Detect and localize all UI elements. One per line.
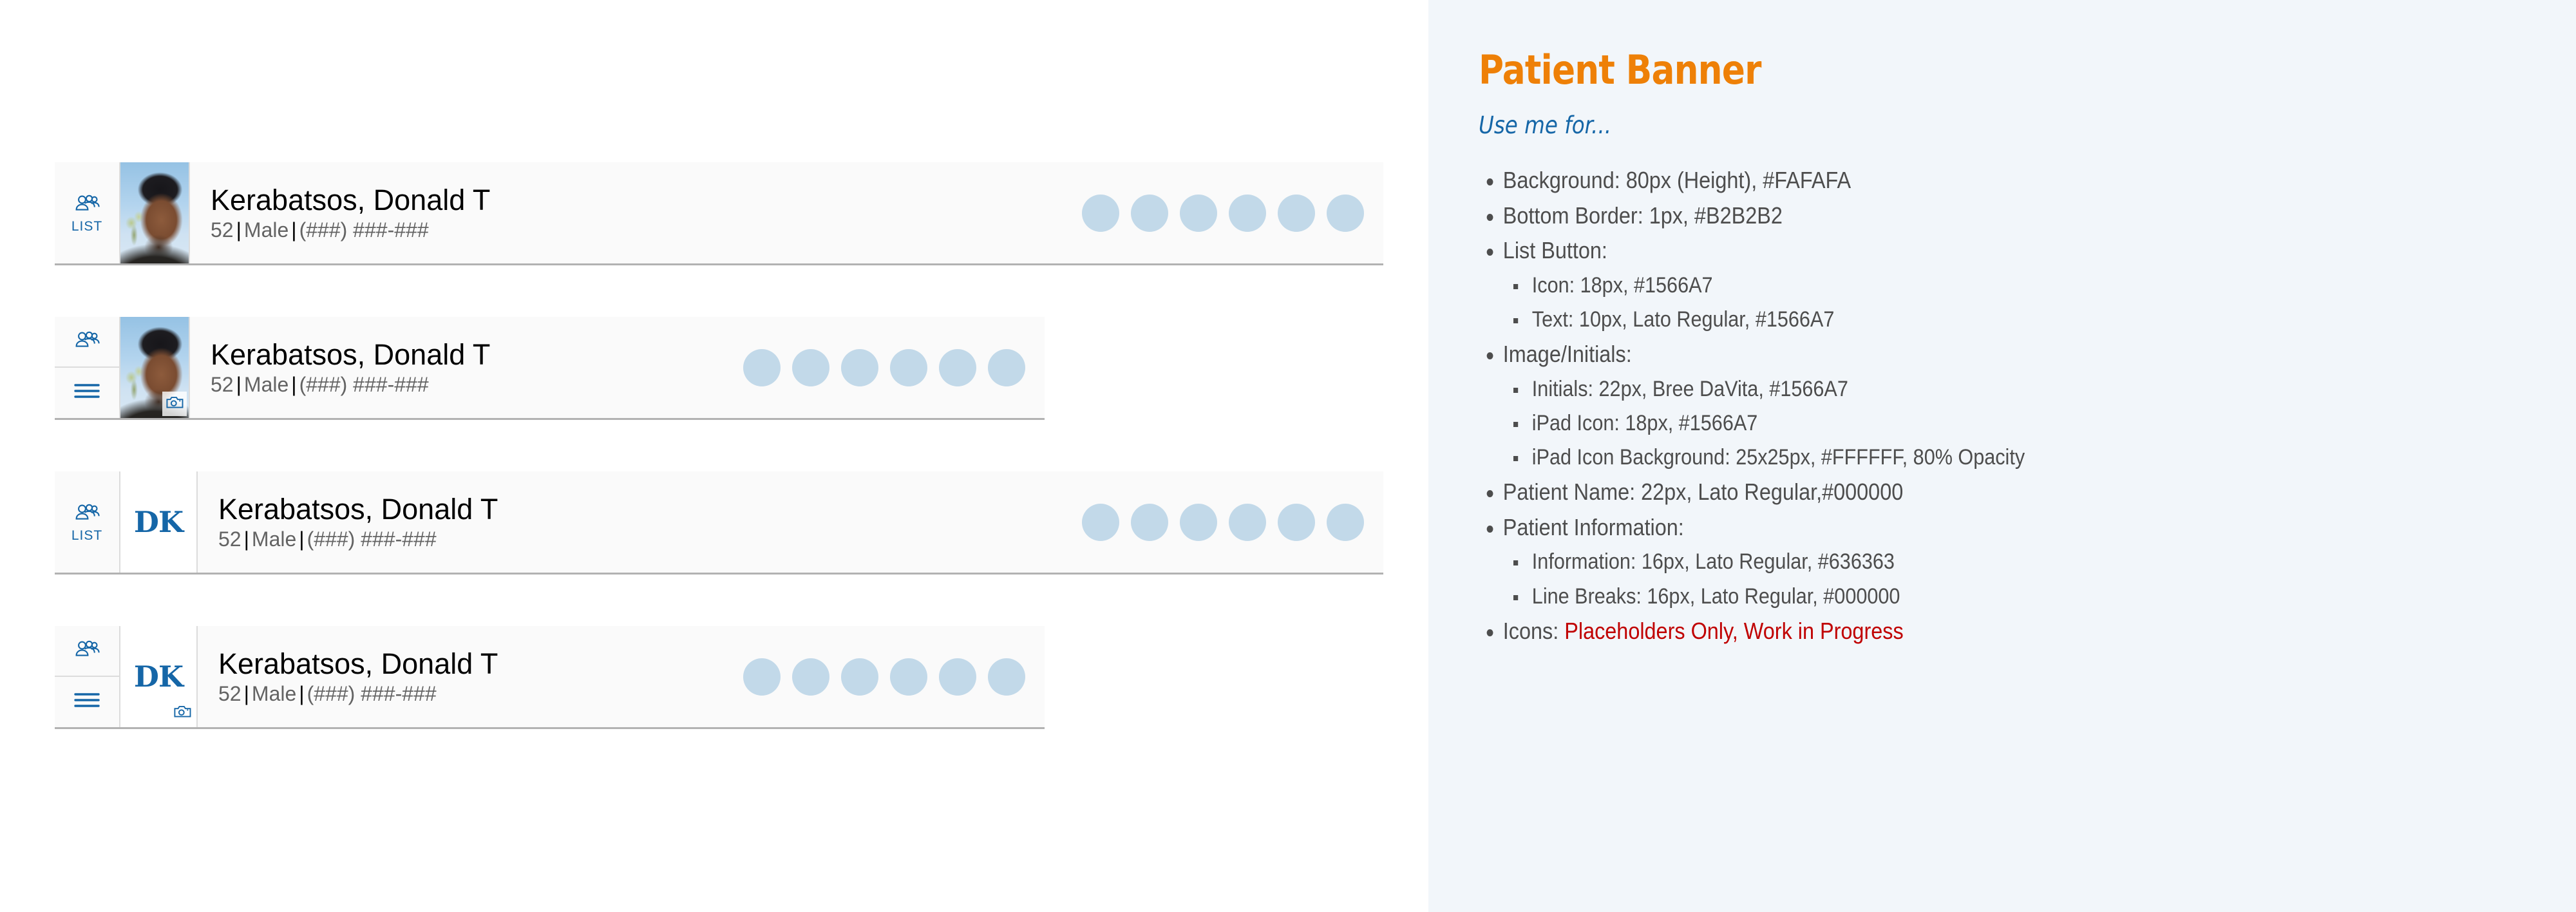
patient-age: 52 <box>218 527 241 551</box>
spec-sublist: Initials: 22px, Bree DaVita, #1566A7 iPa… <box>1503 372 2432 475</box>
patient-banner-row[interactable]: LIST Kerabatsos, Donald T 52|Male|(###) … <box>55 162 1383 265</box>
line-break: | <box>241 527 252 551</box>
hamburger-menu-icon <box>73 691 101 712</box>
spec-subitem: Icon: 18px, #1566A7 <box>1503 269 2432 303</box>
patient-sex: Male <box>244 218 289 242</box>
patient-photo-image <box>120 162 189 263</box>
spec-item: Bottom Border: 1px, #B2B2B2 <box>1479 198 2432 234</box>
spec-item: Background: 80px (Height), #FAFAFA <box>1479 163 2432 198</box>
placeholder-icon[interactable] <box>1278 195 1315 232</box>
placeholder-icon[interactable] <box>1278 504 1315 541</box>
patient-initials[interactable]: DK <box>120 626 198 727</box>
patient-name: Kerabatsos, Donald T <box>218 649 498 679</box>
patient-info: Kerabatsos, Donald T 52|Male|(###) ###-#… <box>190 317 743 418</box>
line-break: | <box>289 218 299 242</box>
placeholder-icon-group <box>743 317 1045 418</box>
placeholder-icon[interactable] <box>988 349 1025 386</box>
spec-item-label: List Button: <box>1503 237 1607 263</box>
placeholder-icon[interactable] <box>743 349 781 386</box>
hamburger-menu-icon <box>73 382 101 403</box>
camera-icon <box>166 395 184 412</box>
people-group-icon <box>74 639 100 663</box>
spec-subitem: Text: 10px, Lato Regular, #1566A7 <box>1503 303 2432 337</box>
patient-phone: (###) ###-### <box>299 373 429 396</box>
placeholder-icon[interactable] <box>890 658 927 696</box>
spec-list: Background: 80px (Height), #FAFAFA Botto… <box>1479 163 2537 649</box>
placeholder-icon[interactable] <box>890 349 927 386</box>
spec-item-label: Background: 80px (Height), #FAFAFA <box>1503 167 1851 193</box>
patient-info: Kerabatsos, Donald T 52|Male|(###) ###-#… <box>190 162 1082 263</box>
placeholder-icon[interactable] <box>1327 195 1364 232</box>
placeholder-icon[interactable] <box>841 349 878 386</box>
spec-item-label: Patient Information: <box>1503 514 1684 540</box>
placeholder-icon[interactable] <box>988 658 1025 696</box>
patient-photo[interactable] <box>120 162 190 263</box>
patient-name: Kerabatsos, Donald T <box>211 185 490 215</box>
placeholder-icon[interactable] <box>792 658 829 696</box>
patient-information: 52|Male|(###) ###-### <box>211 220 490 242</box>
list-button[interactable]: LIST <box>55 162 119 263</box>
patient-phone: (###) ###-### <box>307 682 437 705</box>
patient-phone: (###) ###-### <box>299 218 429 242</box>
placeholder-icon[interactable] <box>939 658 976 696</box>
patient-initials[interactable]: DK <box>120 471 198 573</box>
patient-info: Kerabatsos, Donald T 52|Male|(###) ###-#… <box>198 471 1082 573</box>
placeholder-icon[interactable] <box>1180 504 1217 541</box>
list-button-label: LIST <box>71 220 102 233</box>
list-button[interactable] <box>55 317 119 368</box>
app-root: LIST Kerabatsos, Donald T 52|Male|(###) … <box>0 0 2576 912</box>
spec-subitem: Line Breaks: 16px, Lato Regular, #000000 <box>1503 580 2432 614</box>
spec-item-label: Bottom Border: 1px, #B2B2B2 <box>1503 202 1783 229</box>
page-title: Patient Banner <box>1479 50 2389 90</box>
people-group-icon <box>74 193 100 217</box>
placeholder-icon[interactable] <box>841 658 878 696</box>
placeholder-icon[interactable] <box>1082 195 1119 232</box>
spec-sublist: Icon: 18px, #1566A7 Text: 10px, Lato Reg… <box>1503 269 2432 337</box>
spec-item: Image/Initials: Initials: 22px, Bree DaV… <box>1479 337 2432 475</box>
patient-information: 52|Male|(###) ###-### <box>211 374 490 396</box>
line-break: | <box>241 682 252 705</box>
camera-icon <box>174 705 191 721</box>
list-button-column: LIST <box>55 162 120 263</box>
placeholder-icon[interactable] <box>743 658 781 696</box>
list-button-column: LIST <box>55 471 120 573</box>
patient-sex: Male <box>252 527 296 551</box>
people-group-icon <box>74 502 100 526</box>
placeholder-icon[interactable] <box>1131 195 1168 232</box>
spec-item: Icons: Placeholders Only, Work in Progre… <box>1479 614 2432 649</box>
placeholder-icon[interactable] <box>939 349 976 386</box>
patient-initials-text: DK <box>134 508 183 537</box>
patient-information: 52|Male|(###) ###-### <box>218 529 498 551</box>
patient-banner-row[interactable]: LIST DK Kerabatsos, Donald T 52|Male|(##… <box>55 471 1383 575</box>
list-button-column <box>55 317 120 418</box>
patient-info: Kerabatsos, Donald T 52|Male|(###) ###-#… <box>198 626 743 727</box>
patient-sex: Male <box>244 373 289 396</box>
placeholder-icon[interactable] <box>1180 195 1217 232</box>
spec-sublist: Information: 16px, Lato Regular, #636363… <box>1503 545 2432 613</box>
patient-information: 52|Male|(###) ###-### <box>218 683 498 705</box>
camera-button[interactable] <box>162 392 187 416</box>
people-group-icon <box>74 330 100 354</box>
placeholder-icon[interactable] <box>1229 504 1266 541</box>
list-button-column <box>55 626 120 727</box>
placeholder-icon[interactable] <box>1327 504 1364 541</box>
line-break: | <box>296 682 307 705</box>
spec-item: Patient Information: Information: 16px, … <box>1479 510 2432 614</box>
spec-subitem: iPad Icon: 18px, #1566A7 <box>1503 406 2432 441</box>
notes-subtitle: Use me for... <box>1479 113 2410 137</box>
placeholder-icon[interactable] <box>1082 504 1119 541</box>
spec-item-warning: Placeholders Only, Work in Progress <box>1564 618 1903 644</box>
patient-banner-row[interactable]: DK Kerabatsos, Donald T 52|Male|( <box>55 626 1045 729</box>
patient-name: Kerabatsos, Donald T <box>211 339 490 370</box>
placeholder-icon[interactable] <box>1131 504 1168 541</box>
patient-name: Kerabatsos, Donald T <box>218 494 498 524</box>
spec-item-label: Icons: <box>1503 618 1564 644</box>
placeholder-icon-group <box>1082 162 1383 263</box>
patient-sex: Male <box>252 682 296 705</box>
patient-age: 52 <box>211 218 234 242</box>
spec-item: List Button: Icon: 18px, #1566A7 Text: 1… <box>1479 233 2432 337</box>
patient-age: 52 <box>218 682 241 705</box>
list-button[interactable] <box>55 626 119 677</box>
placeholder-icon-group <box>743 626 1045 727</box>
spec-subitem: Initials: 22px, Bree DaVita, #1566A7 <box>1503 372 2432 406</box>
spec-item-label: Patient Name: 22px, Lato Regular,#000000 <box>1503 479 1903 505</box>
spec-notes-panel: Patient Banner Use me for... Background:… <box>1428 0 2576 912</box>
spec-subitem: Information: 16px, Lato Regular, #636363 <box>1503 545 2432 579</box>
patient-initials-text: DK <box>134 662 183 691</box>
spec-subitem: iPad Icon Background: 25x25px, #FFFFFF, … <box>1503 441 2432 475</box>
line-break: | <box>234 218 244 242</box>
patient-phone: (###) ###-### <box>307 527 437 551</box>
patient-photo[interactable] <box>120 317 190 418</box>
spec-item-label: Image/Initials: <box>1503 341 1632 367</box>
list-button-label: LIST <box>71 529 102 542</box>
line-break: | <box>296 527 307 551</box>
line-break: | <box>234 373 244 396</box>
banner-canvas: LIST Kerabatsos, Donald T 52|Male|(###) … <box>0 0 1428 912</box>
placeholder-icon-group <box>1082 471 1383 573</box>
camera-button[interactable] <box>170 701 194 725</box>
spec-item: Patient Name: 22px, Lato Regular,#000000 <box>1479 475 2432 510</box>
patient-age: 52 <box>211 373 234 396</box>
line-break: | <box>289 373 299 396</box>
menu-button[interactable] <box>55 368 119 419</box>
menu-button[interactable] <box>55 677 119 728</box>
patient-banner-row[interactable]: Kerabatsos, Donald T 52|Male|(###) ###-#… <box>55 317 1045 420</box>
placeholder-icon[interactable] <box>792 349 829 386</box>
list-button[interactable]: LIST <box>55 471 119 573</box>
placeholder-icon[interactable] <box>1229 195 1266 232</box>
